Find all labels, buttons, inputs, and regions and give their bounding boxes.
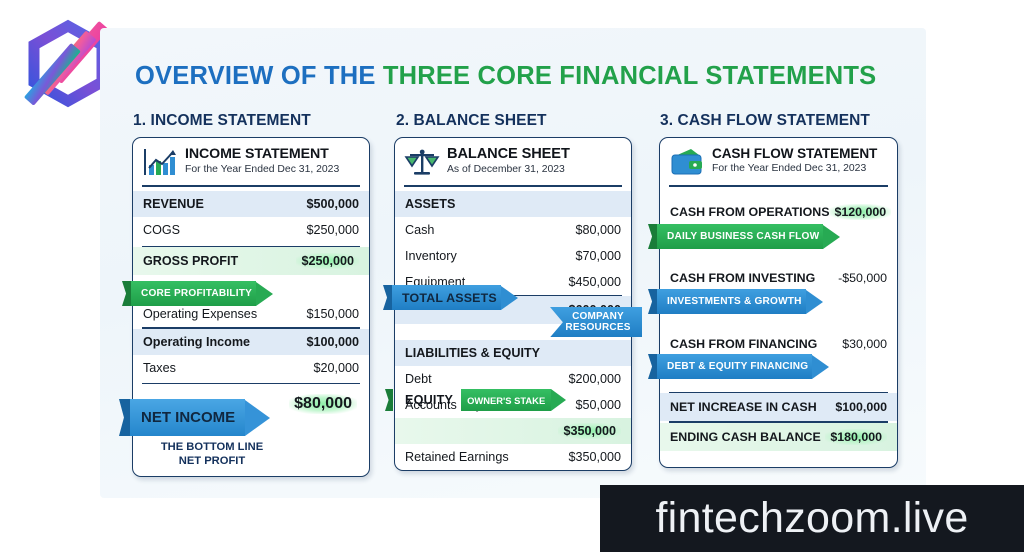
row-label: Retained Earnings <box>405 450 509 464</box>
column-heading-cashflow: 3. CASH FLOW STATEMENT <box>660 112 870 130</box>
liabilities-section-header: LIABILITIES & EQUITY <box>395 340 631 366</box>
balance-sheet-title: BALANCE SHEET <box>447 147 570 162</box>
arrow-label: CORE PROFITABILITY <box>131 281 256 306</box>
arrow-notch <box>648 289 657 314</box>
infographic-stage: OVERVIEW OF THE THREE CORE FINANCIAL STA… <box>0 0 1024 552</box>
arrow-notch <box>385 389 393 411</box>
operations-row: CASH FROM OPERATIONS $120,000 <box>660 199 897 225</box>
arrow-label: DEBT & EQUITY FINANCING <box>657 354 812 379</box>
equity-value: $350,000 <box>558 423 621 439</box>
row-value: $350,000 <box>568 450 621 464</box>
balance-sheet-header: BALANCE SHEET As of December 31, 2023 <box>395 138 631 182</box>
equity-arrow: EQUITY OWNER'S STAKE <box>385 389 566 411</box>
investing-arrow: INVESTMENTS & GROWTH <box>648 289 823 314</box>
arrow-notch <box>648 224 657 249</box>
section-label: LIABILITIES & EQUITY <box>405 346 540 360</box>
net-increase-row: NET INCREASE IN CASH $100,000 <box>660 393 897 421</box>
row-label: GROSS PROFIT <box>143 254 238 268</box>
row-label: Taxes <box>143 361 176 375</box>
net-income-value: $80,000 <box>289 394 357 414</box>
row-label: Inventory <box>405 249 457 263</box>
badge-line-1: COMPANY <box>562 311 634 322</box>
row-label: Operating Income <box>143 335 250 349</box>
table-row: Taxes $20,000 <box>133 355 369 381</box>
row-label: CASH FROM OPERATIONS <box>670 205 829 219</box>
watermark-text: fintechzoom.live <box>655 494 968 543</box>
table-row: GROSS PROFIT $250,000 <box>133 247 369 275</box>
row-value: $150,000 <box>306 307 359 321</box>
row-label: NET INCREASE IN CASH <box>670 400 817 414</box>
page-title: OVERVIEW OF THE THREE CORE FINANCIAL STA… <box>135 62 925 91</box>
row-value: $80,000 <box>575 223 621 237</box>
page-title-blue: OVERVIEW OF THE <box>135 62 383 90</box>
bottom-line-note: THE BOTTOM LINE NET PROFIT <box>142 440 282 468</box>
row-value: $70,000 <box>575 249 621 263</box>
arrow-tip <box>823 225 840 249</box>
cash-flow-title: CASH FLOW STATEMENT <box>712 147 877 161</box>
wallet-icon <box>669 146 705 178</box>
arrow-tip <box>245 400 270 436</box>
table-row: Inventory $70,000 <box>395 243 631 269</box>
scales-balance-icon <box>404 146 440 178</box>
ending-balance-row: ENDING CASH BALANCE $180,000 <box>660 423 897 451</box>
table-row: Cash $80,000 <box>395 217 631 243</box>
row-value: $30,000 <box>842 337 887 351</box>
arrow-notch <box>119 399 130 436</box>
row-label: ENDING CASH BALANCE <box>670 430 821 444</box>
assets-section-header: ASSETS <box>395 191 631 217</box>
row-value: $500,000 <box>306 197 359 211</box>
bar-chart-growth-icon <box>142 146 178 178</box>
income-statement-title: INCOME STATEMENT <box>185 147 339 162</box>
table-row: Retained Earnings $350,000 <box>395 444 631 470</box>
page-title-green: THREE CORE FINANCIAL STATEMENTS <box>383 62 877 90</box>
arrow-notch <box>648 354 657 379</box>
watermark-banner: fintechzoom.live <box>600 485 1024 552</box>
row-value: $120,000 <box>829 204 891 220</box>
operations-arrow: DAILY BUSINESS CASH FLOW <box>648 224 840 249</box>
row-value: -$50,000 <box>838 271 887 285</box>
row-label: Operating Expenses <box>143 307 257 321</box>
row-value: $50,000 <box>575 398 621 412</box>
row-label: Debt <box>405 372 432 386</box>
row-label: COGS <box>143 223 180 237</box>
table-row: Operating Income $100,000 <box>133 329 369 355</box>
table-row: COGS $250,000 <box>133 217 369 243</box>
row-value: $250,000 <box>306 223 359 237</box>
equity-label: EQUITY <box>405 393 453 407</box>
column-heading-income: 1. INCOME STATEMENT <box>133 112 311 130</box>
arrow-notch <box>383 285 392 310</box>
equity-row: $350,000 <box>395 418 631 444</box>
row-label: REVENUE <box>143 197 204 211</box>
arrow-tip <box>501 286 518 310</box>
arrow-tip <box>806 290 823 314</box>
arrow-tip <box>812 355 829 379</box>
section-label: ASSETS <box>405 197 455 211</box>
row-value: $180,000 <box>825 429 887 445</box>
financing-arrow: DEBT & EQUITY FINANCING <box>648 354 829 379</box>
arrow-notch <box>122 281 131 306</box>
income-statement-header: INCOME STATEMENT For the Year Ended Dec … <box>133 138 369 182</box>
balance-sheet-subtitle: As of December 31, 2023 <box>447 164 570 175</box>
net-income-label: NET INCOME <box>130 399 245 436</box>
badge-line-2: RESOURCES <box>562 322 634 333</box>
cash-flow-header: CASH FLOW STATEMENT For the Year Ended D… <box>660 138 897 182</box>
arrow-label: INVESTMENTS & GROWTH <box>657 289 806 314</box>
row-value: $20,000 <box>313 361 359 375</box>
row-label: CASH FROM FINANCING <box>670 337 817 351</box>
total-assets-label: TOTAL ASSETS <box>392 285 501 310</box>
table-row: REVENUE $500,000 <box>133 191 369 217</box>
income-statement-subtitle: For the Year Ended Dec 31, 2023 <box>185 164 339 175</box>
equity-badge-label: OWNER'S STAKE <box>467 395 545 406</box>
arrow-tip <box>256 282 273 306</box>
cash-flow-subtitle: For the Year Ended Dec 31, 2023 <box>712 163 877 174</box>
bottom-line-text-2: NET PROFIT <box>142 454 282 468</box>
row-value: $200,000 <box>568 372 621 386</box>
column-heading-balance: 2. BALANCE SHEET <box>396 112 547 130</box>
company-resources-badge: COMPANY RESOURCES <box>550 307 642 337</box>
row-value: $100,000 <box>306 335 359 349</box>
row-value: $250,000 <box>296 253 359 269</box>
total-assets-arrow: TOTAL ASSETS <box>383 285 518 310</box>
row-label: Cash <box>405 223 434 237</box>
bottom-line-text-1: THE BOTTOM LINE <box>142 440 282 454</box>
row-value: $450,000 <box>568 275 621 289</box>
investing-row: CASH FROM INVESTING -$50,000 <box>660 265 897 291</box>
core-profitability-arrow: CORE PROFITABILITY <box>122 281 273 306</box>
row-label: CASH FROM INVESTING <box>670 271 815 285</box>
row-value: $100,000 <box>835 400 887 414</box>
arrow-tip <box>551 389 566 411</box>
net-income-arrow: NET INCOME <box>119 399 270 436</box>
arrow-label: DAILY BUSINESS CASH FLOW <box>657 224 823 249</box>
